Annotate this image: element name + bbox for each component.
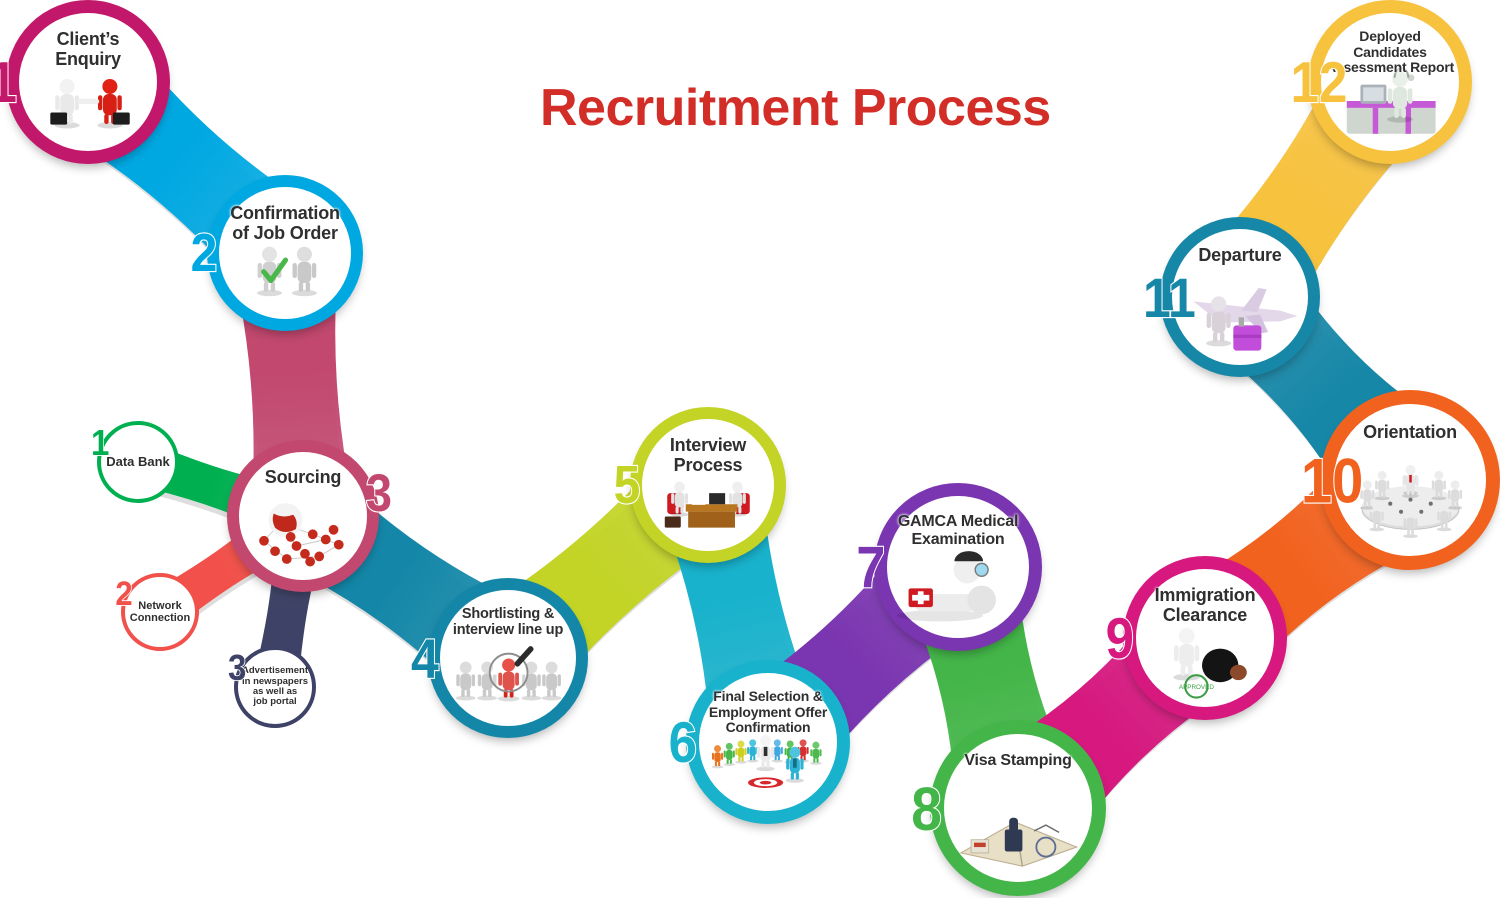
svg-text:APPROVED: APPROVED: [1179, 684, 1214, 691]
step-label-2: Confirmationof Job Order: [210, 203, 360, 243]
step-number-4: 4: [411, 631, 439, 687]
step-number-9: 9: [1106, 610, 1134, 667]
step-number-12: 12: [1291, 54, 1348, 111]
step-label-8: Visa Stamping: [934, 752, 1103, 770]
recruitment-process-diagram: Recruitment Process Client’sEnquiryConfi…: [0, 0, 1500, 898]
step-label-1: Client’sEnquiry: [9, 29, 166, 69]
meeting-table-icon: [1343, 455, 1478, 547]
process-step-6[interactable]: Final Selection &Employment OfferConfirm…: [686, 660, 850, 824]
step-number-5: 5: [614, 459, 641, 513]
step-number-1: 1: [0, 54, 17, 111]
process-step-9[interactable]: ImmigrationClearanceAPPROVED: [1123, 556, 1287, 720]
sub-step-label: NetworkConnection: [125, 600, 195, 624]
sub-step-number-2: 2: [115, 576, 132, 610]
step-number-7: 7: [856, 539, 885, 597]
process-step-1[interactable]: Client’sEnquiry: [6, 0, 170, 164]
step-label-7: GAMCA MedicalExamination: [877, 513, 1038, 549]
page-title: Recruitment Process: [540, 78, 1051, 138]
sub-step-number-1: 1: [91, 424, 109, 460]
step-number-8: 8: [911, 778, 942, 840]
process-step-4[interactable]: Shortlisting &interview line up: [428, 578, 588, 738]
sub-step-network[interactable]: NetworkConnection: [121, 573, 199, 651]
process-step-2[interactable]: Confirmationof Job Order: [207, 175, 363, 331]
process-step-3[interactable]: Sourcing: [227, 440, 379, 592]
step-label-10: Orientation: [1324, 422, 1497, 442]
handshake-businessmen-icon: [27, 59, 150, 143]
sub-step-label: Advertisementin newspapersas well asjob …: [238, 666, 312, 708]
step-number-2: 2: [191, 227, 218, 281]
sub-step-label: Data Bank: [101, 455, 175, 469]
process-step-8[interactable]: Visa Stamping: [930, 720, 1106, 896]
globe-network-icon: [246, 494, 360, 572]
medical-checkup-icon: [895, 544, 1021, 630]
step-label-6: Final Selection &Employment OfferConfirm…: [689, 689, 846, 736]
magnifier-candidate-icon: [448, 636, 568, 718]
passport-stamp-icon: [952, 783, 1084, 873]
sub-step-number-3: 3: [228, 649, 246, 685]
airplane-luggage-icon: [1180, 275, 1300, 357]
step-number-10: 10: [1301, 450, 1363, 513]
process-step-7[interactable]: GAMCA MedicalExamination: [874, 483, 1042, 651]
stamp-approved-icon: APPROVED: [1144, 615, 1267, 699]
step-label-4: Shortlisting &interview line up: [431, 606, 585, 638]
step-label-5: InterviewProcess: [633, 435, 783, 475]
step-label-9: ImmigrationClearance: [1126, 585, 1283, 625]
step-label-11: Departure: [1163, 245, 1317, 265]
step-number-6: 6: [669, 714, 697, 771]
step-number-3: 3: [366, 466, 392, 519]
step-number-11: 11: [1143, 270, 1196, 326]
step-label-3: Sourcing: [230, 467, 376, 487]
process-step-5[interactable]: InterviewProcess: [630, 407, 786, 563]
